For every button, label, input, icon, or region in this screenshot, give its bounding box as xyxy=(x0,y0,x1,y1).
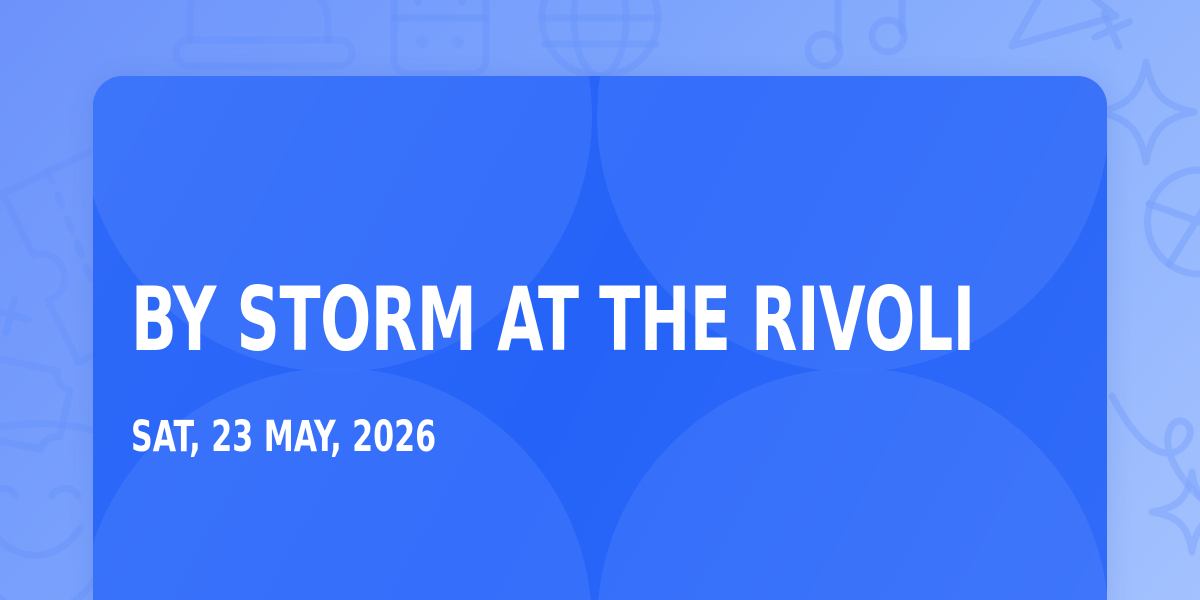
sparkle-icon xyxy=(1098,62,1194,162)
event-banner: BY STORM AT THE RIVOLI SAT, 23 MAY, 2026 xyxy=(0,0,1200,600)
party-popper-icon xyxy=(1012,0,1160,46)
ticket-icon xyxy=(0,351,73,453)
event-card[interactable]: BY STORM AT THE RIVOLI SAT, 23 MAY, 2026 xyxy=(93,76,1107,600)
star-icon xyxy=(1152,472,1200,552)
confetti-icon xyxy=(0,295,32,337)
cake-icon xyxy=(176,0,352,66)
globe-icon xyxy=(542,0,658,76)
balloon-icon xyxy=(1132,154,1200,313)
calendar-icon xyxy=(394,0,486,74)
music-note-icon xyxy=(808,0,904,66)
event-title: BY STORM AT THE RIVOLI xyxy=(131,272,975,368)
event-date: SAT, 23 MAY, 2026 xyxy=(131,412,436,462)
ribbon-swirl-icon xyxy=(1112,396,1200,522)
card-content: BY STORM AT THE RIVOLI SAT, 23 MAY, 2026 xyxy=(131,76,1067,600)
